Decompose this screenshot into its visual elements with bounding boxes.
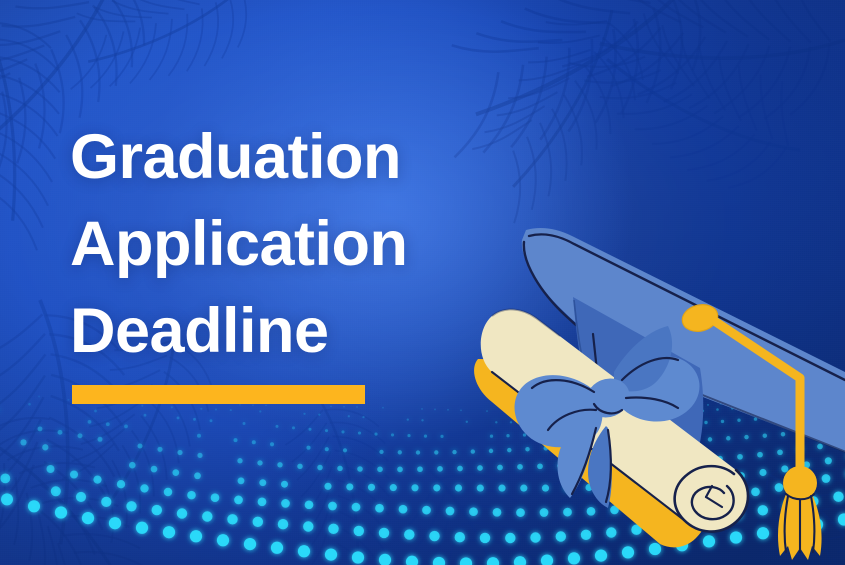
cyan-dot-grid: [0, 395, 845, 565]
headline-line-1: Graduation: [70, 114, 408, 201]
headline-line-2: Application: [70, 201, 408, 288]
headline-line-3: Deadline: [70, 288, 408, 375]
graduation-deadline-banner: Graduation Application Deadline: [0, 0, 845, 565]
headline-block: Graduation Application Deadline: [70, 114, 408, 375]
accent-underline-bar: [72, 385, 365, 404]
